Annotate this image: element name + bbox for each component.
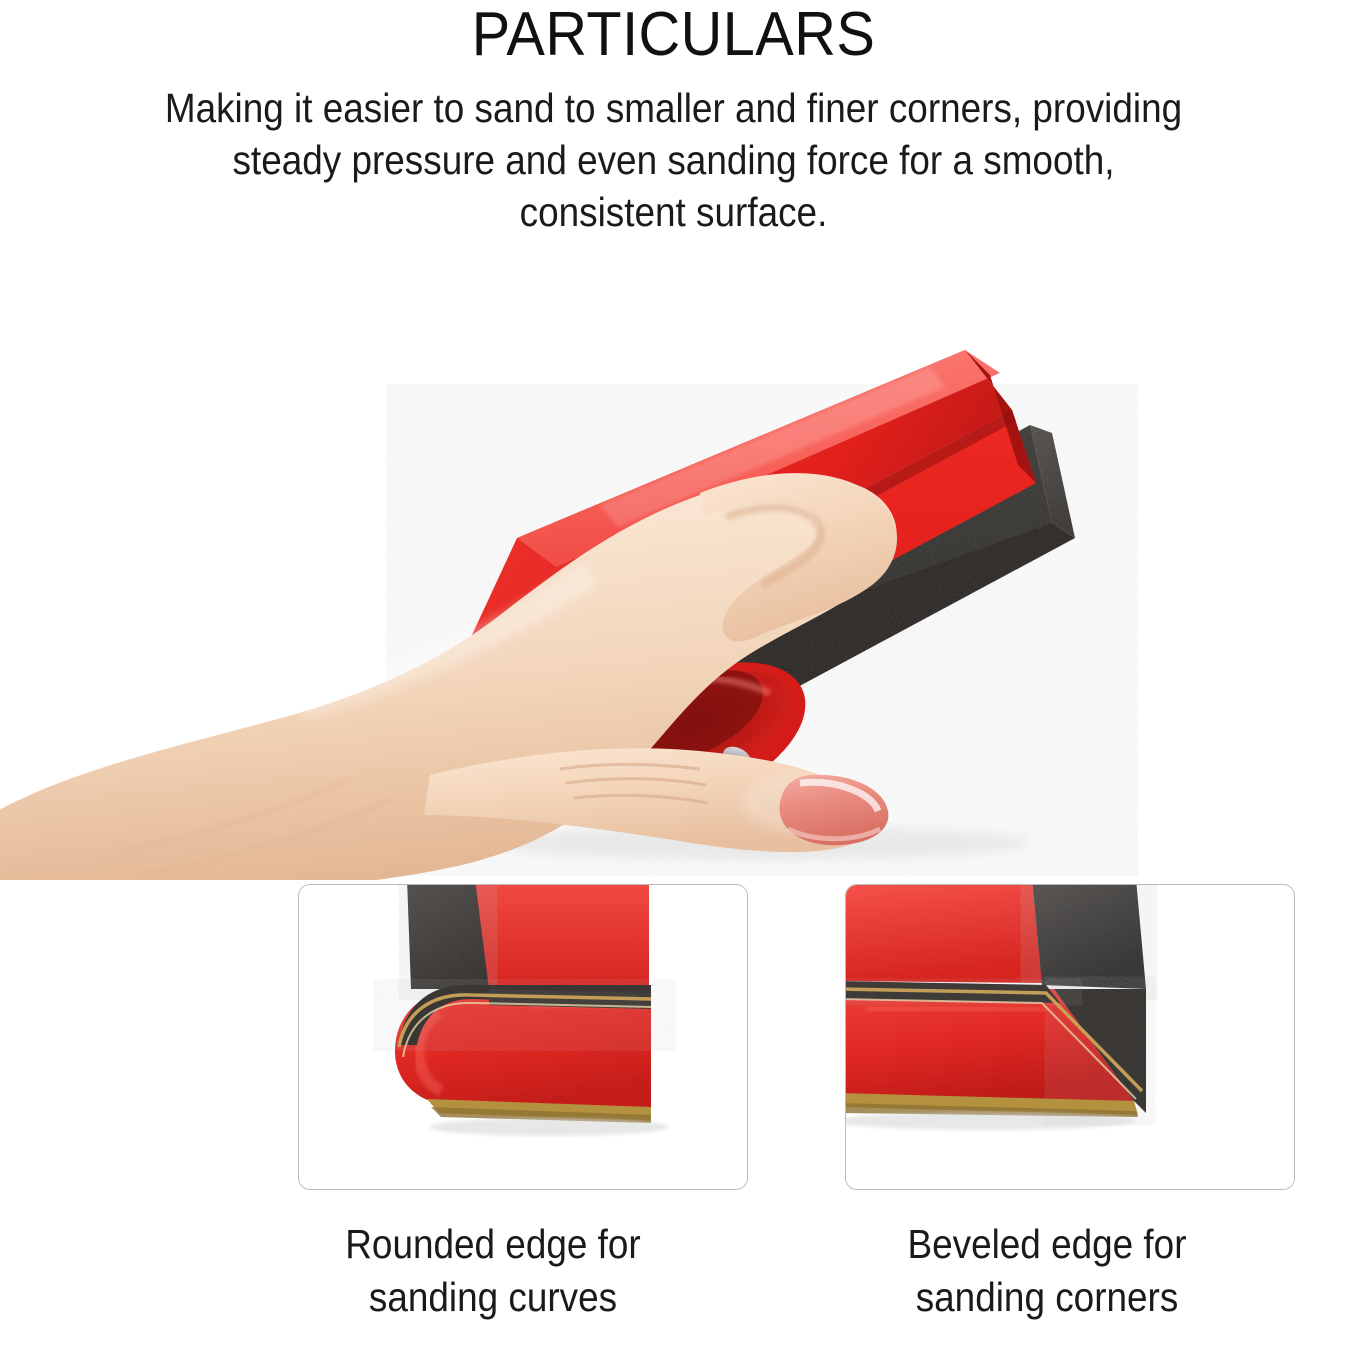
rounded-edge-illustration (299, 885, 747, 1189)
detail-panels (0, 884, 1347, 1192)
hero-photo (0, 255, 1347, 880)
caption-rounded-line1: Rounded edge for (282, 1218, 705, 1271)
caption-rounded-line2: sanding curves (282, 1271, 705, 1324)
panel-captions: Rounded edge for sanding curves Beveled … (0, 1218, 1347, 1347)
page-subtitle: Making it easier to sand to smaller and … (67, 68, 1279, 238)
panel-rounded-edge[interactable] (298, 884, 748, 1190)
caption-beveled-line1: Beveled edge for (836, 1218, 1259, 1271)
caption-beveled-line2: sanding corners (836, 1271, 1259, 1324)
header-block: PARTICULARS Making it easier to sand to … (0, 0, 1347, 238)
page-title: PARTICULARS (47, 0, 1300, 68)
hero-illustration (0, 255, 1347, 880)
caption-beveled-edge: Beveled edge for sanding corners (836, 1218, 1259, 1324)
product-infographic-page: PARTICULARS Making it easier to sand to … (0, 0, 1347, 1347)
caption-rounded-edge: Rounded edge for sanding curves (282, 1218, 705, 1324)
beveled-edge-illustration (846, 885, 1294, 1189)
panel-beveled-edge[interactable] (845, 884, 1295, 1190)
